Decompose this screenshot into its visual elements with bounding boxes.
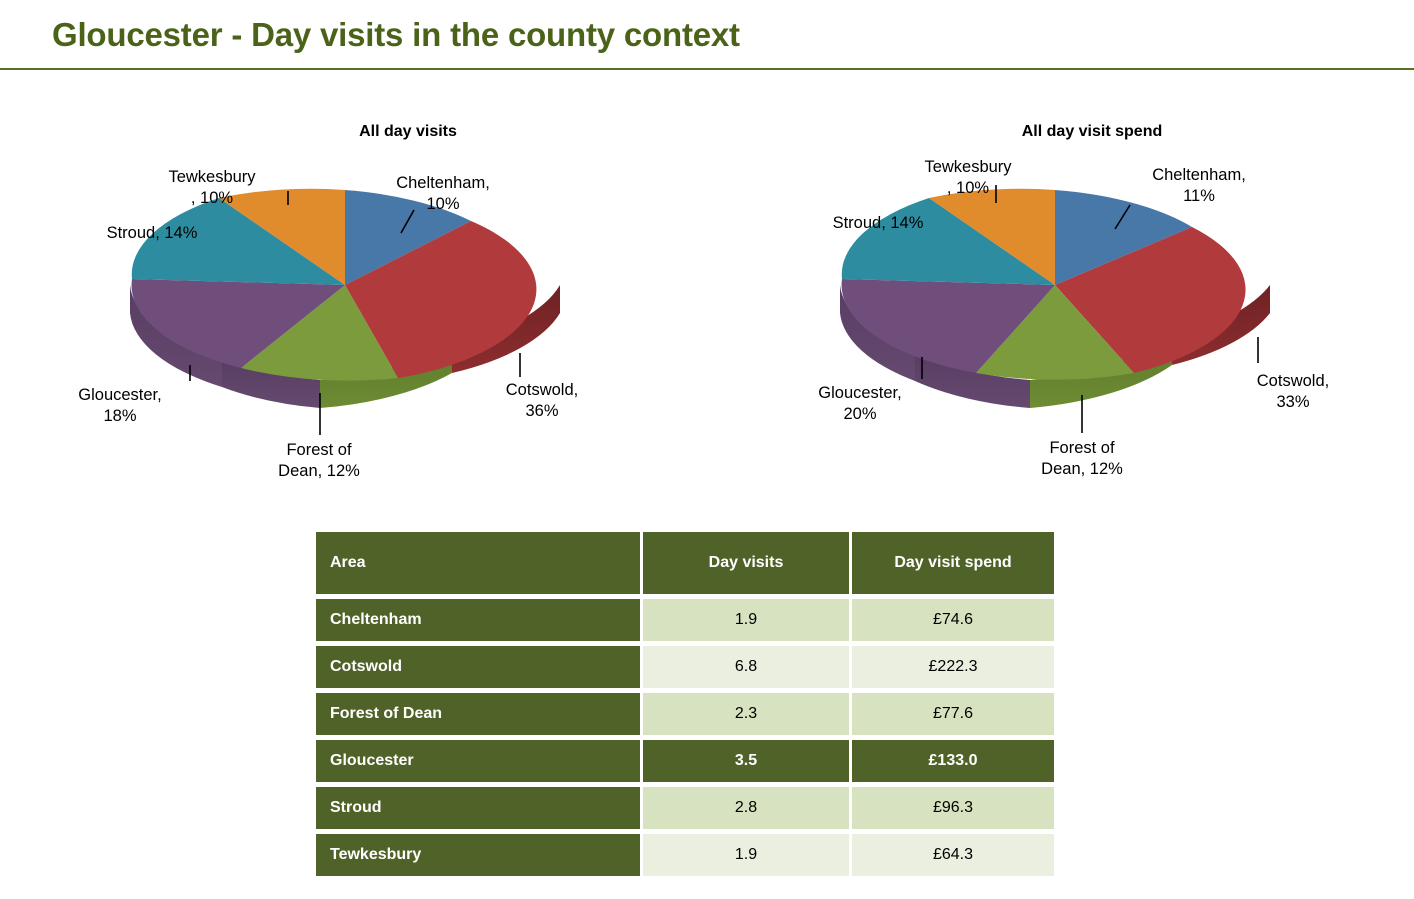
table-cell-day-visit-spend: £74.6: [852, 599, 1054, 641]
chart-all-day-visit-spend: All day visit spend: [730, 105, 1390, 505]
table-cell-area: Forest of Dean: [316, 693, 640, 735]
table-cell-area: Gloucester: [316, 740, 640, 782]
table-cell-day-visits: 6.8: [643, 646, 849, 688]
pie-label-stroud: Stroud, 14%: [808, 213, 948, 234]
table-cell-day-visit-spend: £96.3: [852, 787, 1054, 829]
pie-label-cotswold: Cotswold, 33%: [1230, 371, 1356, 413]
table-cell-day-visits: 1.9: [643, 599, 849, 641]
title-divider-rule: [0, 68, 1414, 70]
table-header-row: Area Day visits Day visit spend: [316, 532, 1054, 594]
page-title: Gloucester - Day visits in the county co…: [52, 16, 740, 54]
table-row: Forest of Dean 2.3 £77.6: [316, 693, 1054, 735]
table-header-day-visit-spend: Day visit spend: [852, 532, 1054, 594]
table-cell-day-visit-spend: £77.6: [852, 693, 1054, 735]
pie-label-forest-of-dean: Forest of Dean, 12%: [258, 440, 380, 482]
table-row: Cheltenham 1.9 £74.6: [316, 599, 1054, 641]
pie-label-stroud: Stroud, 14%: [82, 223, 222, 244]
table-cell-day-visits: 2.8: [643, 787, 849, 829]
pie-label-gloucester: Gloucester, 20%: [792, 383, 928, 425]
table-cell-day-visits: 2.3: [643, 693, 849, 735]
table-header-day-visits: Day visits: [643, 532, 849, 594]
pie-label-cheltenham: Cheltenham, 11%: [1122, 165, 1276, 207]
table-row: Stroud 2.8 £96.3: [316, 787, 1054, 829]
table-cell-day-visit-spend: £222.3: [852, 646, 1054, 688]
pie-label-gloucester: Gloucester, 18%: [52, 385, 188, 427]
chart-all-day-visits: All day visits: [20, 105, 680, 505]
table-cell-area: Cheltenham: [316, 599, 640, 641]
table-header-area: Area: [316, 532, 640, 594]
table-row: Tewkesbury 1.9 £64.3: [316, 834, 1054, 876]
pie-label-cotswold: Cotswold, 36%: [482, 380, 602, 422]
table-cell-day-visits: 1.9: [643, 834, 849, 876]
pie-label-tewkesbury: Tewkesbury , 10%: [138, 167, 286, 209]
pie-label-cheltenham: Cheltenham, 10%: [368, 173, 518, 215]
table-row: Cotswold 6.8 £222.3: [316, 646, 1054, 688]
table-cell-day-visit-spend: £133.0: [852, 740, 1054, 782]
table-cell-day-visits: 3.5: [643, 740, 849, 782]
table-cell-area: Stroud: [316, 787, 640, 829]
table-cell-day-visit-spend: £64.3: [852, 834, 1054, 876]
table-cell-area: Cotswold: [316, 646, 640, 688]
table-row-highlighted: Gloucester 3.5 £133.0: [316, 740, 1054, 782]
table-cell-area: Tewkesbury: [316, 834, 640, 876]
pie-label-forest-of-dean: Forest of Dean, 12%: [1020, 438, 1144, 480]
pie-label-tewkesbury: Tewkesbury , 10%: [894, 157, 1042, 199]
area-day-visits-table: Area Day visits Day visit spend Cheltenh…: [313, 527, 1057, 881]
